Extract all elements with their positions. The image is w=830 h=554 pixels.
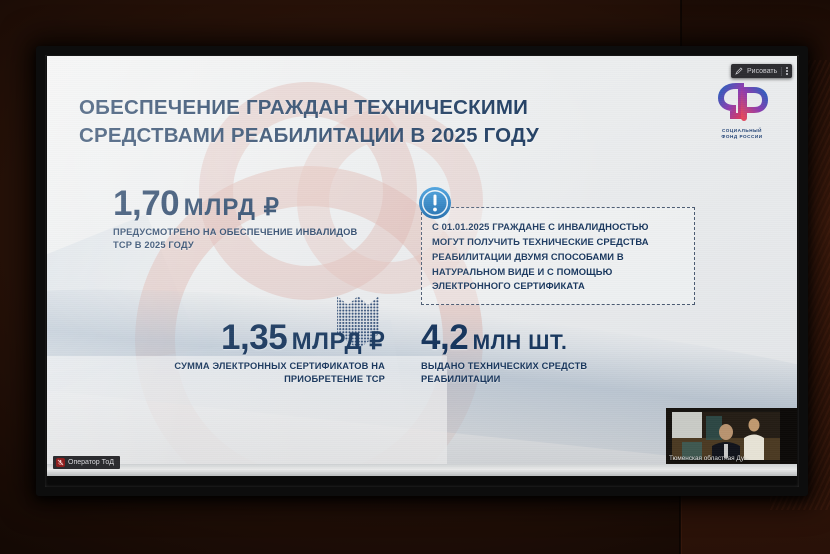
stat-caption-line-1: ПРЕДУСМОТРЕНО НА ОБЕСПЕЧЕНИЕ ИНВАЛИДОВ bbox=[113, 226, 357, 239]
draw-toolbar-label[interactable]: Рисовать bbox=[747, 68, 777, 75]
stat-value-row: 1,35 МЛРД ₽ bbox=[117, 318, 385, 358]
draw-toolbar[interactable]: Рисовать bbox=[731, 64, 792, 78]
stat-block-devices-issued: 4,2 МЛН ШТ. ВЫДАНО ТЕХНИЧЕСКИХ СРЕДСТВ Р… bbox=[421, 318, 587, 387]
slide-title: ОБЕСПЕЧЕНИЕ ГРАЖДАН ТЕХНИЧЕСКИМИ СРЕДСТВ… bbox=[79, 94, 579, 151]
mic-muted-icon[interactable] bbox=[56, 458, 65, 467]
sfr-logo: СОЦИАЛЬНЫЙ ФОНД РОССИИ bbox=[705, 82, 779, 140]
presentation-slide: ОБЕСПЕЧЕНИЕ ГРАЖДАН ТЕХНИЧЕСКИМИ СРЕДСТВ… bbox=[47, 56, 797, 464]
stat-caption: СУММА ЭЛЕКТРОННЫХ СЕРТИФИКАТОВ НА ПРИОБР… bbox=[117, 360, 385, 387]
stat-value-row: 1,70 МЛРД ₽ bbox=[113, 184, 357, 224]
sfr-monogram-icon bbox=[714, 82, 770, 122]
slide-title-line-2: СРЕДСТВАМИ РЕАБИЛИТАЦИИ В 2025 ГОДУ bbox=[79, 122, 579, 150]
pencil-icon[interactable] bbox=[735, 67, 743, 75]
stat-block-budget: 1,70 МЛРД ₽ ПРЕДУСМОТРЕНО НА ОБЕСПЕЧЕНИЕ… bbox=[113, 184, 357, 253]
callout-line-2: МОГУТ ПОЛУЧИТЬ ТЕХНИЧЕСКИЕ СРЕДСТВА bbox=[432, 235, 684, 250]
stat-value: 1,35 bbox=[221, 318, 287, 357]
callout-box: С 01.01.2025 ГРАЖДАНЕ С ИНВАЛИДНОСТЬЮ МО… bbox=[421, 207, 695, 305]
stat-caption-line-1: ВЫДАНО ТЕХНИЧЕСКИХ СРЕДСТВ bbox=[421, 360, 587, 373]
callout-line-5: ЭЛЕКТРОННОГО СЕРТИФИКАТА bbox=[432, 279, 684, 294]
participant-video-tile[interactable]: Тюменская областная Ду... bbox=[666, 408, 797, 464]
screen-content: ОБЕСПЕЧЕНИЕ ГРАЖДАН ТЕХНИЧЕСКИМИ СРЕДСТВ… bbox=[47, 56, 797, 476]
stat-value: 1,70 bbox=[113, 184, 179, 223]
desk-seam bbox=[679, 496, 681, 554]
stat-unit: МЛРД ₽ bbox=[292, 328, 385, 355]
display-screen: ОБЕСПЕЧЕНИЕ ГРАЖДАН ТЕХНИЧЕСКИМИ СРЕДСТВ… bbox=[36, 46, 808, 496]
kebab-menu-icon[interactable] bbox=[786, 67, 788, 74]
stat-caption-line-2: ПРИОБРЕТЕНИЕ ТСР bbox=[117, 373, 385, 386]
toolbar-divider bbox=[781, 67, 782, 76]
callout-line-4: НАТУРАЛЬНОМ ВИДЕ И С ПОМОЩЬЮ bbox=[432, 265, 684, 280]
stat-value: 4,2 bbox=[421, 318, 468, 357]
app-bottom-bar bbox=[47, 464, 797, 476]
stat-caption-line-1: СУММА ЭЛЕКТРОННЫХ СЕРТИФИКАТОВ НА bbox=[117, 360, 385, 373]
video-tile-label: Тюменская областная Ду... bbox=[669, 455, 749, 462]
sfr-logo-caption: СОЦИАЛЬНЫЙ ФОНД РОССИИ bbox=[705, 128, 779, 140]
callout-text: С 01.01.2025 ГРАЖДАНЕ С ИНВАЛИДНОСТЬЮ МО… bbox=[432, 220, 684, 294]
stat-caption-line-2: РЕАБИЛИТАЦИИ bbox=[421, 373, 587, 386]
stat-value-row: 4,2 МЛН ШТ. bbox=[421, 318, 587, 358]
stat-unit: МЛРД ₽ bbox=[184, 194, 280, 221]
sfr-logo-caption-line-2: ФОНД РОССИИ bbox=[705, 134, 779, 140]
active-speaker-chip[interactable]: Оператор ТоД bbox=[53, 456, 120, 469]
stat-block-certificates: 1,35 МЛРД ₽ СУММА ЭЛЕКТРОННЫХ СЕРТИФИКАТ… bbox=[117, 318, 385, 387]
stat-caption-line-2: ТСР В 2025 ГОДУ bbox=[113, 239, 357, 252]
stat-unit: МЛН ШТ. bbox=[473, 331, 568, 354]
stat-caption: ВЫДАНО ТЕХНИЧЕСКИХ СРЕДСТВ РЕАБИЛИТАЦИИ bbox=[421, 360, 587, 387]
slide-title-line-1: ОБЕСПЕЧЕНИЕ ГРАЖДАН ТЕХНИЧЕСКИМИ bbox=[79, 94, 579, 122]
conference-room-photo: ОБЕСПЕЧЕНИЕ ГРАЖДАН ТЕХНИЧЕСКИМИ СРЕДСТВ… bbox=[0, 0, 830, 554]
callout-line-3: РЕАБИЛИТАЦИИ ДВУМЯ СПОСОБАМИ В bbox=[432, 250, 684, 265]
stat-caption: ПРЕДУСМОТРЕНО НА ОБЕСПЕЧЕНИЕ ИНВАЛИДОВ Т… bbox=[113, 226, 357, 253]
callout-line-1: С 01.01.2025 ГРАЖДАНЕ С ИНВАЛИДНОСТЬЮ bbox=[432, 220, 684, 235]
exclamation-circle-icon bbox=[418, 186, 452, 220]
active-speaker-name: Оператор ТоД bbox=[68, 459, 114, 466]
